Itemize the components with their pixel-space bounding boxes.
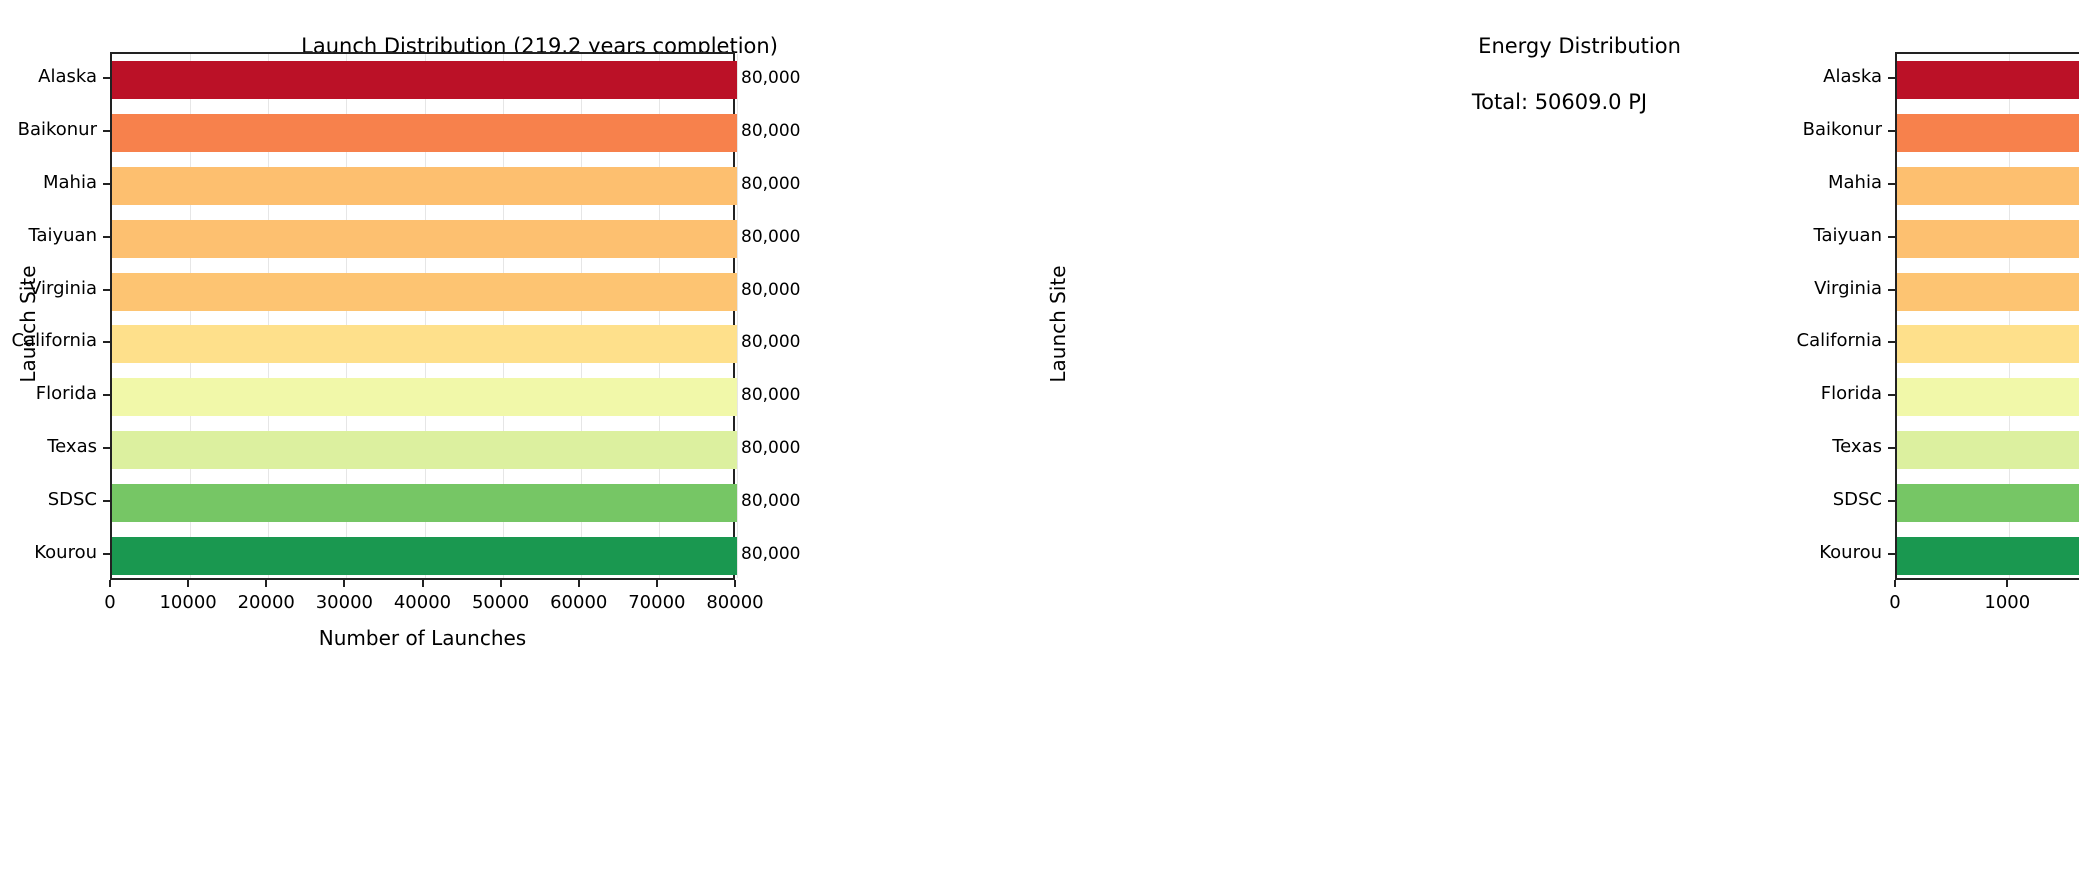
y-tick-label-texas: Texas [0,437,97,457]
bar-taiyuan [1897,220,2079,258]
y-tick-label-kourou: Kourou [1668,543,1882,563]
y-tick-label-california: California [0,331,97,351]
bar-texas [112,431,737,469]
bar-sdsc [112,484,737,522]
y-tick-label-kourou: Kourou [0,543,97,563]
bar-alaska [112,61,737,99]
x-tick-mark [187,580,189,587]
x-grid-line [737,54,738,578]
bar-florida [112,378,737,416]
bar-baikonur [1897,114,2079,152]
plot-area-left [110,52,735,580]
chart-panel-energy-distribution: Energy Distribution Total: 50609.0 PJ La… [1040,0,2079,877]
y-tick-mark [1888,341,1895,343]
y-tick-mark [1888,500,1895,502]
plot-area-right [1895,52,2079,580]
x-axis-label-left: Number of Launches [110,626,735,650]
y-tick-mark [103,130,110,132]
y-tick-mark [1888,394,1895,396]
bar-value-label: 80,000 [741,323,800,361]
bar-sdsc [1897,484,2079,522]
figure-canvas: Launch Distribution (219.2 years complet… [0,0,2079,877]
y-tick-label-alaska: Alaska [1668,67,1882,87]
y-tick-mark [103,77,110,79]
bar-california [1897,325,2079,363]
y-tick-mark [1888,236,1895,238]
y-tick-label-florida: Florida [0,384,97,404]
x-tick-mark [109,580,111,587]
y-tick-mark [1888,553,1895,555]
bar-california [112,325,737,363]
y-tick-label-baikonur: Baikonur [1668,120,1882,140]
chart-title-right-line1: Energy Distribution [1478,34,1681,58]
y-tick-label-texas: Texas [1668,437,1882,457]
bar-value-label: 80,000 [741,376,800,414]
y-tick-mark [1888,447,1895,449]
bar-virginia [112,273,737,311]
y-tick-label-taiyuan: Taiyuan [0,226,97,246]
chart-panel-launch-distribution: Launch Distribution (219.2 years complet… [0,0,1039,877]
x-tick-label: 1000 [1947,592,2067,614]
y-tick-mark [103,553,110,555]
bar-baikonur [112,114,737,152]
x-tick-mark [422,580,424,587]
bar-value-label: 80,000 [741,271,800,309]
y-tick-mark [1888,77,1895,79]
y-tick-label-mahia: Mahia [0,173,97,193]
bar-florida [1897,378,2079,416]
y-tick-mark [103,236,110,238]
x-tick-mark [734,580,736,587]
x-tick-mark [1894,580,1896,587]
y-tick-label-florida: Florida [1668,384,1882,404]
bar-value-label: 80,000 [741,535,800,573]
y-tick-label-taiyuan: Taiyuan [1668,226,1882,246]
y-axis-label-right: Launch Site [1046,234,1070,414]
bar-taiyuan [112,220,737,258]
bar-value-label: 80,000 [741,165,800,203]
y-tick-mark [1888,183,1895,185]
y-tick-label-sdsc: SDSC [0,490,97,510]
bar-mahia [112,167,737,205]
bar-value-label: 80,000 [741,218,800,256]
x-tick-mark [343,580,345,587]
y-tick-mark [1888,130,1895,132]
x-tick-label: 80000 [675,592,795,614]
bar-virginia [1897,273,2079,311]
y-tick-label-california: California [1668,331,1882,351]
bar-kourou [112,537,737,575]
y-tick-mark [103,394,110,396]
x-tick-mark [265,580,267,587]
x-tick-label: 0 [1835,592,1955,614]
y-tick-label-virginia: Virginia [0,279,97,299]
y-tick-mark [1888,289,1895,291]
y-tick-label-alaska: Alaska [0,67,97,87]
y-tick-label-virginia: Virginia [1668,279,1882,299]
y-tick-mark [103,447,110,449]
bar-kourou [1897,537,2079,575]
x-axis-label-right: Energy Consumption (PJ) [1895,626,2079,650]
x-tick-mark [2006,580,2008,587]
bar-alaska [1897,61,2079,99]
bar-value-label: 80,000 [741,112,800,150]
x-tick-label: 2000 [2060,592,2079,614]
y-tick-mark [103,341,110,343]
y-tick-mark [103,289,110,291]
y-tick-label-mahia: Mahia [1668,173,1882,193]
x-tick-mark [500,580,502,587]
y-tick-label-sdsc: SDSC [1668,490,1882,510]
bar-texas [1897,431,2079,469]
y-tick-mark [103,500,110,502]
bar-mahia [1897,167,2079,205]
x-tick-mark [578,580,580,587]
bar-value-label: 80,000 [741,429,800,467]
bar-value-label: 80,000 [741,59,800,97]
x-tick-mark [656,580,658,587]
bar-value-label: 80,000 [741,482,800,520]
y-tick-mark [103,183,110,185]
y-tick-label-baikonur: Baikonur [0,120,97,140]
